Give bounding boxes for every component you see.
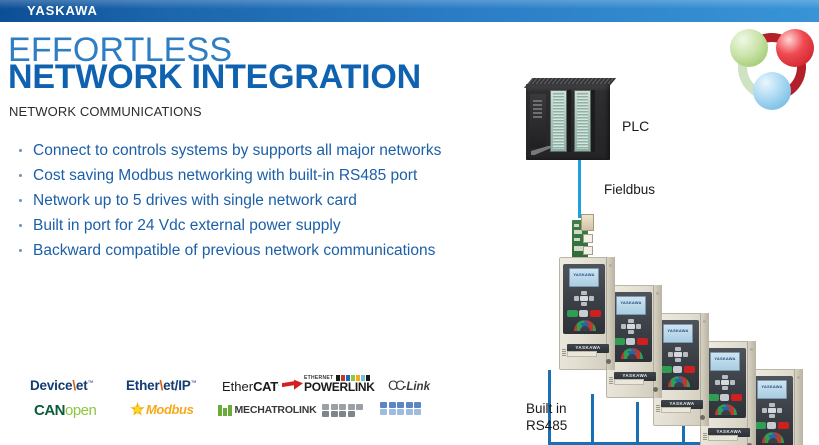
ethernetip-text-b: et/IP bbox=[163, 378, 191, 393]
drive-display: YASKAWA bbox=[663, 324, 693, 343]
cycle-graphic bbox=[728, 25, 818, 113]
fieldbus-line bbox=[578, 160, 581, 218]
rs485-label: Built in RS485 bbox=[526, 400, 567, 434]
drive-run-stop-buttons bbox=[755, 422, 789, 429]
plc-label: PLC bbox=[622, 118, 649, 134]
list-item: Connect to controls systems by supports … bbox=[13, 140, 483, 161]
drive-keypad-panel: YASKAWA YASKAWA bbox=[657, 320, 699, 390]
list-item: Backward compatible of previous network … bbox=[13, 240, 483, 261]
ethercat-text-a: Ether bbox=[222, 379, 253, 394]
drive-1: YASKAWA YASKAWA bbox=[559, 257, 615, 370]
option-card-port-1 bbox=[583, 234, 593, 243]
powerlink-name: POWERLINK bbox=[304, 381, 375, 394]
drive-navigation-keys bbox=[710, 375, 740, 391]
devicenet-text-a: Device bbox=[30, 378, 72, 393]
drive-status-dial bbox=[762, 432, 784, 443]
rs485-label-line2: RS485 bbox=[526, 417, 567, 434]
feature-bullet-list: Connect to controls systems by supports … bbox=[13, 140, 483, 265]
rs485-drop-2 bbox=[591, 394, 594, 445]
ethercat-logo: EtherCAT. bbox=[222, 379, 304, 394]
blurred-logo-marks-2 bbox=[380, 402, 421, 415]
devicenet-logo: Device\et™ bbox=[30, 378, 93, 393]
plc-device bbox=[526, 84, 610, 160]
canopen-text-b: open bbox=[65, 402, 96, 419]
modbus-logo: Modbus bbox=[130, 402, 193, 417]
drive-status-dial bbox=[668, 376, 690, 387]
yaskawa-logo: YASKAWA bbox=[27, 3, 98, 18]
red-sphere bbox=[776, 29, 814, 67]
fieldbus-label: Fieldbus bbox=[604, 182, 655, 197]
mechatrolink-icon bbox=[218, 405, 232, 416]
list-item: Built in port for 24 Vdc external power … bbox=[13, 215, 483, 236]
network-option-card bbox=[572, 214, 594, 260]
drive-run-stop-buttons bbox=[567, 310, 601, 317]
rs485-drop-3 bbox=[636, 402, 639, 445]
ethercat-text-b: CAT bbox=[253, 379, 278, 394]
drive-run-stop-buttons bbox=[708, 394, 742, 401]
plc-cpu-module bbox=[530, 94, 546, 148]
network-diagram: PLC Fieldbus YASKAWA YASKAWA bbox=[500, 22, 819, 445]
plc-io-module bbox=[574, 90, 591, 152]
page-subtitle: NETWORK COMMUNICATIONS bbox=[9, 104, 202, 119]
devicenet-text-b: et bbox=[76, 378, 88, 393]
drive-run-stop-buttons bbox=[661, 366, 695, 373]
drive-status-dial bbox=[621, 348, 643, 359]
header-bar: YASKAWA bbox=[0, 0, 819, 22]
drive-keypad-panel: YASKAWA YASKAWA bbox=[610, 292, 652, 362]
modbus-name: Modbus bbox=[146, 402, 193, 417]
protocol-logo-strip: Device\et™ Ether\et/IP™ EtherCAT. ETHERN… bbox=[22, 374, 432, 432]
rs485-label-line1: Built in bbox=[526, 400, 567, 417]
drive-keypad-panel: YASKAWA YASKAWA bbox=[563, 264, 605, 334]
slide-canvas: YASKAWA EFFORTLESS NETWORK INTEGRATION N… bbox=[0, 0, 819, 445]
canopen-text-a: CAN bbox=[34, 402, 65, 419]
drive-run-stop-buttons bbox=[614, 338, 648, 345]
fieldbus-extra-logo-2 bbox=[380, 402, 421, 415]
drive-display: YASKAWA bbox=[757, 380, 787, 399]
drive-display: YASKAWA bbox=[616, 296, 646, 315]
drive-status-dial bbox=[574, 320, 596, 331]
ethercat-arrow-icon bbox=[282, 380, 304, 389]
modbus-star-icon bbox=[130, 402, 145, 417]
devicenet-tm: ™ bbox=[88, 381, 94, 387]
blue-sphere bbox=[753, 72, 791, 110]
cclink-text-a: CC bbox=[388, 378, 403, 393]
powerlink-logo: ETHERNET POWERLINK bbox=[304, 375, 375, 394]
ethernetip-text-a: Ether bbox=[126, 378, 160, 393]
drive-navigation-keys bbox=[757, 403, 787, 419]
mechatrolink-name: MECHATROLINK bbox=[235, 404, 317, 416]
drive-navigation-keys bbox=[663, 347, 693, 363]
drive-navigation-keys bbox=[569, 291, 599, 307]
ethernet-ip-logo: Ether\et/IP™ bbox=[126, 378, 196, 393]
drive-navigation-keys bbox=[616, 319, 646, 335]
plc-io-module bbox=[550, 90, 567, 152]
option-card-connector bbox=[581, 214, 594, 231]
option-card-port-2 bbox=[583, 246, 593, 255]
drive-display: YASKAWA bbox=[710, 352, 740, 371]
drive-display: YASKAWA bbox=[569, 268, 599, 287]
list-item: Cost saving Modbus networking with built… bbox=[13, 165, 483, 186]
blurred-logo-marks bbox=[322, 404, 363, 417]
drive-keypad-panel: YASKAWA YASKAWA bbox=[751, 376, 793, 445]
cclink-text-b: -Link bbox=[403, 381, 430, 393]
cc-link-logo: CC-Link bbox=[388, 378, 430, 393]
green-sphere bbox=[730, 29, 768, 67]
fieldbus-extra-logo-1 bbox=[322, 404, 363, 417]
drive-status-dial bbox=[715, 404, 737, 415]
ethercat-tm: . bbox=[278, 382, 280, 388]
canopen-logo: CANopen bbox=[34, 402, 96, 419]
page-title-line2: NETWORK INTEGRATION bbox=[8, 60, 421, 94]
plc-separator bbox=[567, 90, 571, 152]
plc-separator bbox=[591, 90, 595, 152]
mechatrolink-logo: MECHATROLINK bbox=[218, 404, 316, 416]
drive-keypad-panel: YASKAWA YASKAWA bbox=[704, 348, 746, 418]
list-item: Network up to 5 drives with single netwo… bbox=[13, 190, 483, 211]
ethernetip-tm: ™ bbox=[191, 381, 197, 387]
